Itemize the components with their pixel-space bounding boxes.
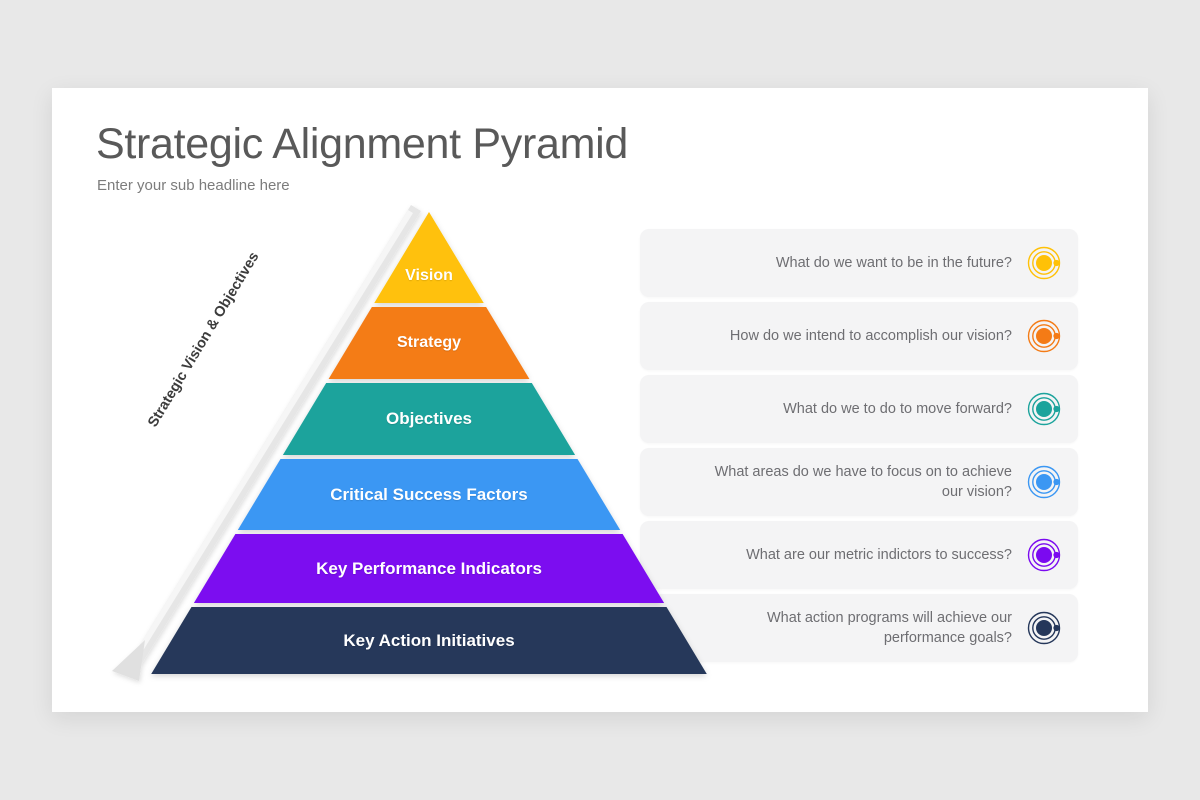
- pyramid-band-label: Critical Success Factors: [330, 485, 527, 505]
- pyramid-band-label: Strategy: [397, 334, 461, 352]
- pyramid-band-label: Key Action Initiatives: [343, 631, 514, 651]
- page-title: Strategic Alignment Pyramid: [96, 120, 628, 169]
- page-subtitle: Enter your sub headline here: [97, 177, 290, 194]
- pyramid-band-label: Key Performance Indicators: [316, 559, 542, 579]
- pyramid-band-label: Objectives: [386, 409, 472, 429]
- slide-canvas: What do we want to be in the future?How …: [0, 0, 1200, 800]
- pyramid-band-label: Vision: [405, 267, 453, 285]
